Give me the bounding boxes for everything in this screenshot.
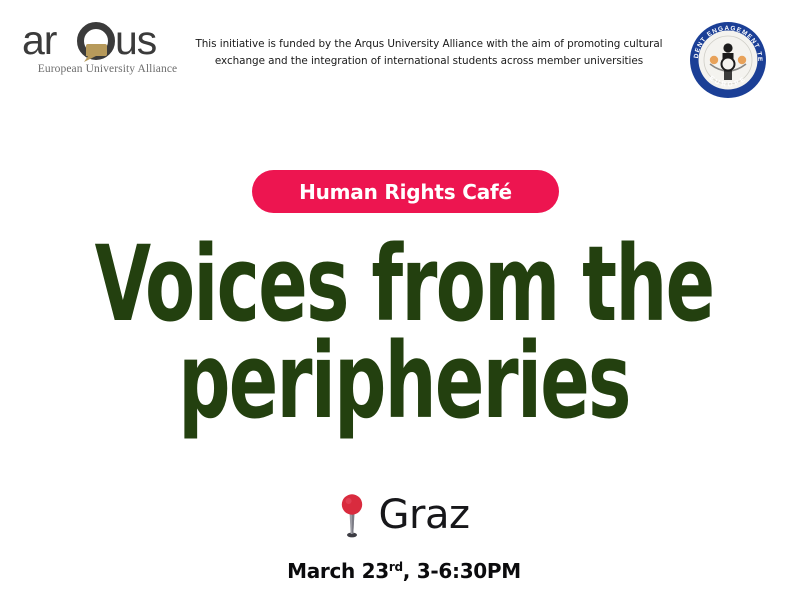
human-rights-cafe-badge: Human Rights Café — [252, 170, 559, 213]
headline-line-1: Voices from the — [89, 236, 719, 333]
event-location: Graz — [0, 492, 808, 538]
arqus-tagline: European University Alliance — [25, 63, 190, 75]
student-engagement-team-badge-icon: STUDENT ENGAGEMENT TEAM EUROPE — [686, 18, 770, 102]
location-label: Graz — [379, 495, 470, 535]
funding-statement: This initiative is funded by the Arqus U… — [186, 36, 672, 70]
poster-header: ar us European University Alliance This … — [0, 0, 808, 110]
headline-line-2: peripheries — [89, 333, 719, 430]
svg-text:us: us — [115, 22, 157, 62]
pill-label: Human Rights Café — [299, 180, 512, 204]
event-date: March 23rd, 3-6:30PM — [0, 559, 808, 583]
date-ordinal-suffix: rd — [389, 560, 403, 574]
round-pushpin-icon — [339, 492, 365, 538]
page-title: Voices from the peripheries — [0, 236, 808, 429]
arqus-wordmark-icon: ar us — [22, 22, 190, 62]
event-poster: ar us European University Alliance This … — [0, 0, 808, 595]
arqus-logo: ar us European University Alliance — [22, 22, 190, 80]
date-time: , 3-6:30PM — [403, 559, 521, 583]
svg-text:ar: ar — [22, 22, 57, 62]
date-month-day: March 23 — [287, 559, 389, 583]
